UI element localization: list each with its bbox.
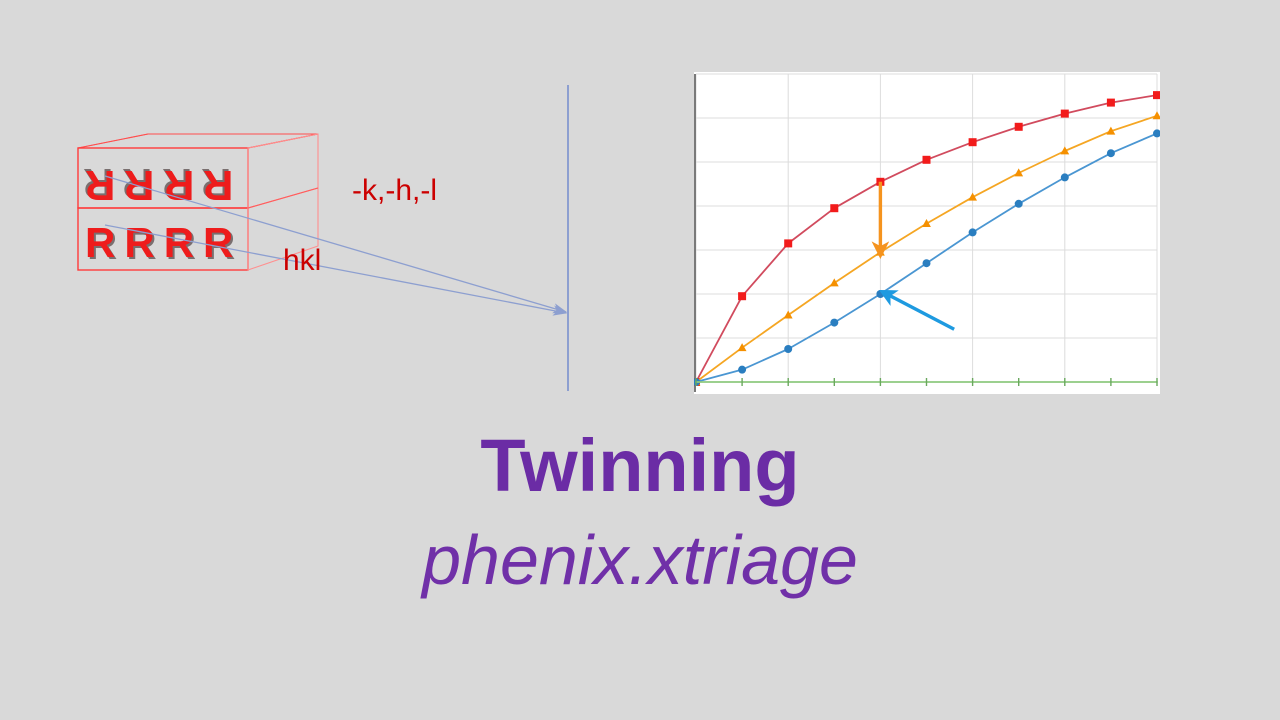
title-block: Twinning phenix.xtriage bbox=[0, 425, 1280, 603]
arrow-lower-to-mirror bbox=[105, 225, 566, 313]
chart-marker-circle bbox=[876, 290, 884, 298]
chart-marker-circle bbox=[923, 259, 931, 267]
chart-background bbox=[694, 72, 1160, 394]
chart-marker-square bbox=[1153, 91, 1160, 99]
chart-marker-square bbox=[784, 239, 792, 247]
chart-marker-square bbox=[738, 292, 746, 300]
chart-marker-square bbox=[923, 156, 931, 164]
chart-marker-circle bbox=[830, 319, 838, 327]
chart-marker-circle bbox=[738, 366, 746, 374]
label-minus-k-minus-h-minus-l: -k,-h,-l bbox=[352, 175, 437, 207]
chart-marker-square bbox=[1107, 99, 1115, 107]
page-subtitle: phenix.xtriage bbox=[0, 517, 1280, 603]
chart-marker-circle bbox=[1107, 149, 1115, 157]
chart-marker-circle bbox=[969, 228, 977, 236]
chart-marker-square bbox=[830, 204, 838, 212]
slide-canvas: R R R R R R R R -k,-h,-l hkl bbox=[0, 0, 1280, 720]
label-hkl: hkl bbox=[283, 245, 321, 277]
chart-marker-circle bbox=[1061, 173, 1069, 181]
chart-marker-square bbox=[1015, 123, 1023, 131]
mirror-plane-line bbox=[567, 85, 569, 391]
chart-svg bbox=[694, 72, 1160, 394]
arrow-upper-to-mirror bbox=[105, 176, 566, 312]
chart-marker-circle bbox=[784, 345, 792, 353]
page-title: Twinning bbox=[0, 425, 1280, 507]
chart-marker-square bbox=[969, 138, 977, 146]
chart-marker-circle bbox=[1015, 200, 1023, 208]
twinning-intensity-chart bbox=[694, 72, 1160, 394]
chart-marker-square bbox=[1061, 110, 1069, 118]
